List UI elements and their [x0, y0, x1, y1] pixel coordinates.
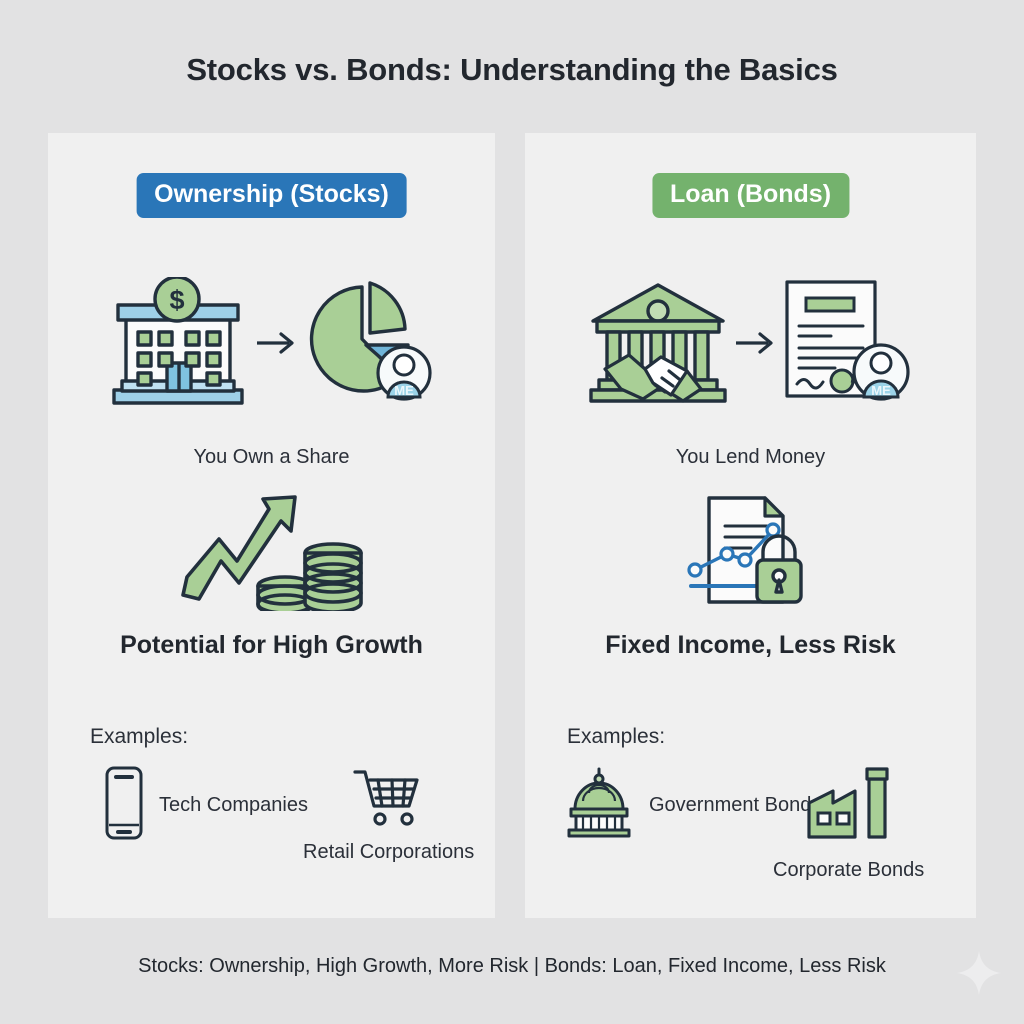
- bonds-caption: You Lend Money: [525, 446, 976, 469]
- smartphone-icon: [103, 765, 145, 846]
- example-label: Corporate Bonds: [773, 858, 924, 884]
- bank-handshake-icon: [583, 277, 733, 410]
- stocks-examples-grid: Tech Companies: [48, 761, 495, 911]
- pie-chart-share-icon: ME: [300, 277, 440, 410]
- stocks-benefit-row: [48, 488, 495, 618]
- example-corporate-bonds: Corporate Bonds: [773, 761, 924, 884]
- arrow-right-icon: [254, 331, 300, 355]
- avatar: ME: [378, 347, 430, 399]
- example-tech-companies: Tech Companies: [103, 765, 308, 846]
- bond-certificate-icon: ME: [779, 276, 919, 411]
- stocks-examples-label: Examples:: [90, 725, 188, 749]
- stocks-concept-row: $: [48, 273, 495, 413]
- capitol-dome-icon: [563, 765, 635, 846]
- panel-stocks: Ownership (Stocks): [48, 133, 495, 918]
- shopping-cart-icon: [352, 767, 426, 834]
- arrow-right-icon: [733, 331, 779, 355]
- panel-bonds: Loan (Bonds): [525, 133, 976, 918]
- sparkle-icon: [956, 950, 1002, 996]
- svg-text:ME: ME: [394, 383, 414, 398]
- bonds-concept-row: ME: [525, 273, 976, 413]
- bonds-examples-label: Examples:: [567, 725, 665, 749]
- svg-text:ME: ME: [871, 383, 891, 398]
- stocks-caption: You Own a Share: [48, 446, 495, 469]
- badge-loan-bonds: Loan (Bonds): [652, 173, 849, 218]
- secured-document-lock-icon: [687, 492, 815, 615]
- badge-ownership-stocks: Ownership (Stocks): [136, 173, 407, 218]
- factory-icon: [803, 761, 895, 852]
- svg-text:$: $: [169, 285, 184, 315]
- bonds-examples-grid: Government Bonds: [525, 761, 976, 911]
- bonds-subhead: Fixed Income, Less Risk: [525, 628, 976, 662]
- example-retail-corporations: Retail Corporations: [303, 767, 474, 866]
- example-label: Retail Corporations: [303, 840, 474, 866]
- avatar: ME: [854, 345, 908, 399]
- office-building-dollar-icon: $: [104, 277, 254, 410]
- growth-arrow-coins-icon: [177, 491, 367, 616]
- footer-summary: Stocks: Ownership, High Growth, More Ris…: [0, 955, 1024, 978]
- bonds-benefit-row: [525, 488, 976, 618]
- infographic-canvas: Stocks vs. Bonds: Understanding the Basi…: [0, 0, 1024, 1024]
- page-title: Stocks vs. Bonds: Understanding the Basi…: [0, 52, 1024, 88]
- example-label: Tech Companies: [159, 793, 308, 819]
- stocks-subhead: Potential for High Growth: [48, 628, 495, 662]
